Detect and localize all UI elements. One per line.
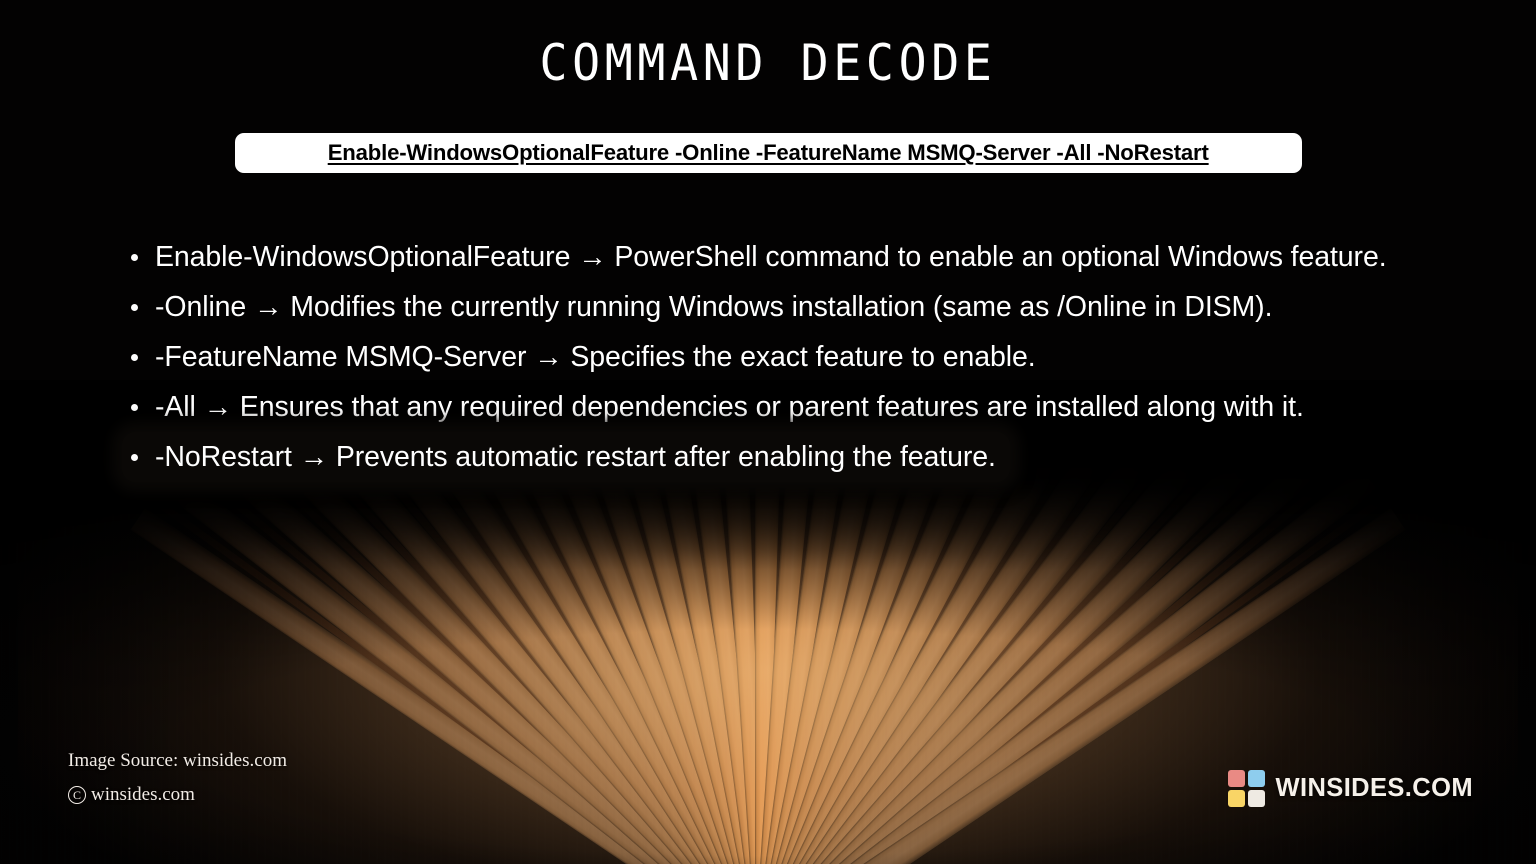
copyright-line: C winsides.com [68,778,287,812]
copyright-text: winsides.com [91,778,195,812]
tile-bottom-left [1228,790,1245,807]
windows-squares-icon [1228,770,1265,807]
winsides-logo[interactable]: WINSIDES.COM [1228,770,1473,807]
bullet-list: Enable-WindowsOptionalFeature → PowerShe… [122,232,1452,482]
attribution-block: Image Source: winsides.com C winsides.co… [68,744,287,812]
copyright-icon: C [68,786,86,804]
command-text: Enable-WindowsOptionalFeature -Online -F… [328,140,1209,166]
list-item: -FeatureName MSMQ-Server → Specifies the… [122,332,1452,382]
list-item: -NoRestart → Prevents automatic restart … [122,432,1010,482]
list-item: -Online → Modifies the currently running… [122,282,1452,332]
tile-bottom-right [1248,790,1265,807]
command-callout-box: Enable-WindowsOptionalFeature -Online -F… [235,133,1302,173]
list-item: -All → Ensures that any required depende… [122,382,1452,432]
tile-top-right [1248,770,1265,787]
tile-top-left [1228,770,1245,787]
slide-content: COMMAND DECODE Enable-WindowsOptionalFea… [0,0,1536,864]
slide-canvas: COMMAND DECODE Enable-WindowsOptionalFea… [0,0,1536,864]
image-source-text: Image Source: winsides.com [68,744,287,778]
list-item: Enable-WindowsOptionalFeature → PowerShe… [122,232,1452,282]
logo-text: WINSIDES.COM [1276,774,1473,803]
page-title: COMMAND DECODE [54,38,1482,88]
list-item-highlighted-wrapper: -NoRestart → Prevents automatic restart … [122,432,1452,482]
